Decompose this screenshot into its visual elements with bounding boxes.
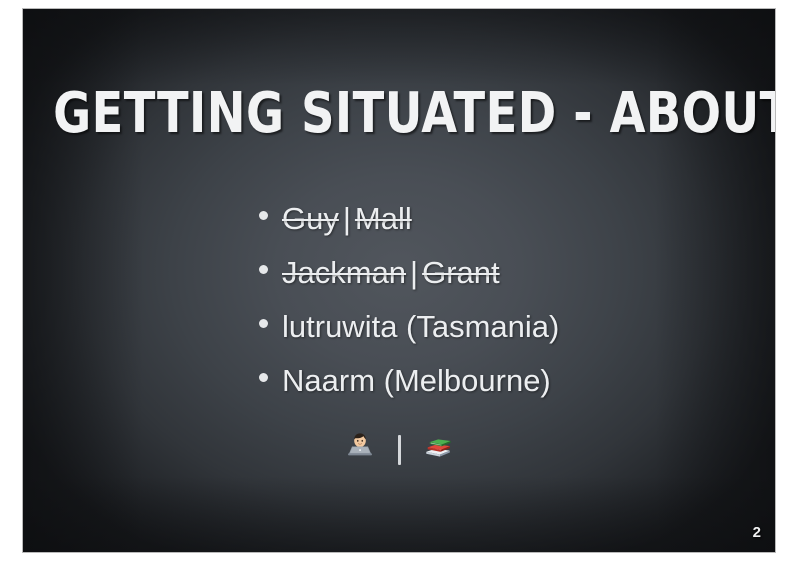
footer-separator [398,435,401,465]
list-item: lutruwita (Tasmania) [259,300,559,354]
bullet-dot-icon [259,265,268,274]
slide-canvas: GETTING SITUATED - ABOUT ME Guy|Mall Jac… [22,8,776,553]
page-number: 2 [753,524,761,542]
technologist-emoji-icon [345,429,375,471]
bullet-dot-icon [259,319,268,328]
bullet-text: lutruwita (Tasmania) [282,300,559,354]
bullet-text-primary: Jackman [282,255,406,290]
bullet-list: Guy|Mall Jackman|Grant lutruwita (Tasman… [259,192,559,408]
footer-emoji-row [23,429,775,471]
slide-page: GETTING SITUATED - ABOUT ME Guy|Mall Jac… [0,0,800,565]
list-item: Guy|Mall [259,192,559,246]
bullet-separator: | [339,192,355,246]
bullet-text: Guy|Mall [282,192,412,246]
bullet-dot-icon [259,211,268,220]
slide-content: GETTING SITUATED - ABOUT ME Guy|Mall Jac… [23,9,775,552]
bullet-text-secondary: Grant [422,255,500,290]
bullet-separator: | [406,246,422,300]
books-emoji-icon [423,429,453,471]
bullet-text-primary: Guy [282,201,339,236]
bullet-text: Jackman|Grant [282,246,500,300]
bullet-text: Naarm (Melbourne) [282,354,551,408]
bullet-dot-icon [259,373,268,382]
page-title: GETTING SITUATED - ABOUT ME [53,83,745,145]
list-item: Naarm (Melbourne) [259,354,559,408]
list-item: Jackman|Grant [259,246,559,300]
bullet-text-secondary: Mall [355,201,412,236]
